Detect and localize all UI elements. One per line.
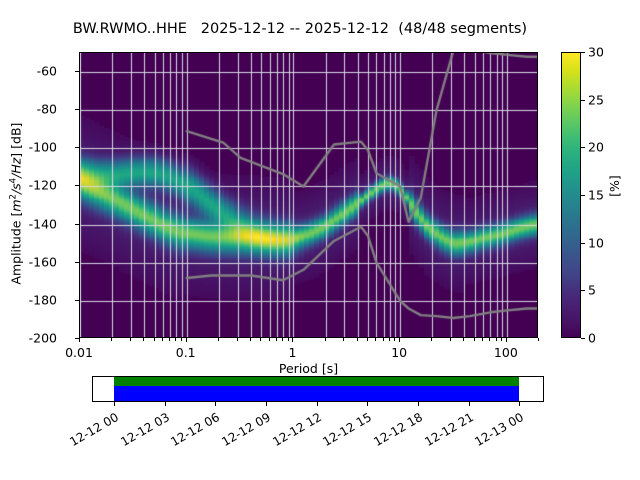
y-tick-mark xyxy=(75,109,79,110)
timeline-tick-mark xyxy=(266,402,267,406)
x-tick-mark-minor xyxy=(162,338,163,341)
colorbar-tick-label: 10 xyxy=(588,235,604,250)
x-tick-mark-minor xyxy=(175,338,176,341)
x-tick-mark-minor xyxy=(450,338,451,341)
colorbar-tick-mark xyxy=(581,147,585,148)
timeline-tick-label: 12-12 06 xyxy=(167,410,222,450)
y-tick-label: -160 xyxy=(29,254,57,269)
x-tick-mark-major xyxy=(506,338,507,342)
x-tick-mark-minor xyxy=(538,338,539,341)
x-tick-mark-minor xyxy=(357,338,358,341)
timeline-tick-label: 12-12 21 xyxy=(420,410,475,450)
timeline-tick-mark xyxy=(418,402,419,406)
timeline-tick-mark xyxy=(367,402,368,406)
timeline-tick-label: 12-12 03 xyxy=(116,410,171,450)
y-axis-label: Amplitude [m2/s4/Hz] [dB] xyxy=(8,94,23,314)
colorbar-tick-mark xyxy=(581,338,585,339)
colorbar-tick-label: 30 xyxy=(588,45,604,60)
x-tick-label: 100 xyxy=(494,345,518,360)
x-tick-mark-minor xyxy=(482,338,483,341)
x-tick-mark-minor xyxy=(169,338,170,341)
x-tick-mark-minor xyxy=(154,338,155,341)
timeline-axes[interactable] xyxy=(92,376,544,402)
colorbar[interactable] xyxy=(561,52,581,338)
colorbar-tick-mark xyxy=(581,52,585,53)
x-tick-mark-minor xyxy=(431,338,432,341)
x-tick-mark-minor xyxy=(394,338,395,341)
colorbar-tick-mark xyxy=(581,243,585,244)
y-tick-label: -140 xyxy=(29,216,57,231)
x-tick-mark-minor xyxy=(282,338,283,341)
data-coverage-green xyxy=(114,377,519,386)
x-tick-mark-minor xyxy=(463,338,464,341)
x-tick-mark-minor xyxy=(260,338,261,341)
colorbar-tick-label: 0 xyxy=(588,331,596,346)
y-tick-label: -100 xyxy=(29,140,57,155)
x-tick-mark-minor xyxy=(237,338,238,341)
x-tick-mark-major xyxy=(399,338,400,342)
y-tick-label: -80 xyxy=(37,102,57,117)
x-tick-mark-minor xyxy=(389,338,390,341)
psd-segments-blue xyxy=(114,386,519,401)
x-tick-mark-minor xyxy=(269,338,270,341)
y-tick-mark xyxy=(75,300,79,301)
x-tick-mark-minor xyxy=(383,338,384,341)
colorbar-tick-label: 25 xyxy=(588,92,604,107)
timeline-tick-label: 12-12 18 xyxy=(370,410,425,450)
x-tick-mark-minor xyxy=(496,338,497,341)
timeline-tick-mark xyxy=(519,402,520,406)
x-axis-label: Period [s] xyxy=(79,361,538,376)
x-tick-mark-minor xyxy=(276,338,277,341)
x-tick-mark-minor xyxy=(375,338,376,341)
colorbar-tick-mark xyxy=(581,290,585,291)
x-tick-mark-major xyxy=(186,338,187,342)
x-tick-mark-minor xyxy=(111,338,112,341)
x-tick-mark-minor xyxy=(489,338,490,341)
y-tick-label: -60 xyxy=(37,64,57,79)
x-tick-mark-minor xyxy=(181,338,182,341)
colorbar-tick-mark xyxy=(581,195,585,196)
y-tick-mark xyxy=(75,71,79,72)
y-tick-mark xyxy=(75,262,79,263)
timeline-tick-label: 12-13 00 xyxy=(471,410,526,450)
x-tick-mark-minor xyxy=(218,338,219,341)
timeline-tick-mark xyxy=(165,402,166,406)
y-tick-label: -120 xyxy=(29,178,57,193)
timeline-tick-label: 12-12 15 xyxy=(319,410,374,450)
noise-model-curves xyxy=(80,53,538,338)
colorbar-tick-label: 20 xyxy=(588,140,604,155)
timeline-tick-mark xyxy=(215,402,216,406)
ppsd-axes[interactable] xyxy=(79,52,538,338)
colorbar-tick-label: 5 xyxy=(588,283,596,298)
x-tick-mark-minor xyxy=(325,338,326,341)
colorbar-tick-label: 15 xyxy=(588,188,604,203)
x-tick-label: 0.1 xyxy=(176,345,196,360)
x-tick-mark-minor xyxy=(501,338,502,341)
x-tick-label: 0.01 xyxy=(65,345,93,360)
timeline-tick-mark xyxy=(469,402,470,406)
y-tick-mark xyxy=(75,147,79,148)
page-title: BW.RWMO..HHE 2025-12-12 -- 2025-12-12 (4… xyxy=(0,21,600,37)
x-tick-mark-minor xyxy=(367,338,368,341)
x-tick-mark-minor xyxy=(288,338,289,341)
y-tick-label: -200 xyxy=(29,331,57,346)
y-tick-label: -180 xyxy=(29,292,57,307)
colorbar-tick-mark xyxy=(581,100,585,101)
x-tick-mark-major xyxy=(292,338,293,342)
timeline-tick-mark xyxy=(317,402,318,406)
x-tick-mark-minor xyxy=(130,338,131,341)
x-tick-mark-minor xyxy=(474,338,475,341)
x-tick-label: 10 xyxy=(391,345,407,360)
colorbar-label: [%] xyxy=(607,156,622,216)
x-tick-mark-minor xyxy=(250,338,251,341)
timeline-tick-mark xyxy=(114,402,115,406)
timeline-tick-label: 12-12 00 xyxy=(66,410,121,450)
timeline-tick-label: 12-12 12 xyxy=(268,410,323,450)
x-tick-label: 1 xyxy=(288,345,296,360)
ppsd-figure: BW.RWMO..HHE 2025-12-12 -- 2025-12-12 (4… xyxy=(0,0,640,480)
x-tick-mark-major xyxy=(79,338,80,342)
y-tick-mark xyxy=(75,185,79,186)
timeline-tick-label: 12-12 09 xyxy=(218,410,273,450)
x-tick-mark-minor xyxy=(143,338,144,341)
x-tick-mark-minor xyxy=(343,338,344,341)
y-tick-mark xyxy=(75,224,79,225)
